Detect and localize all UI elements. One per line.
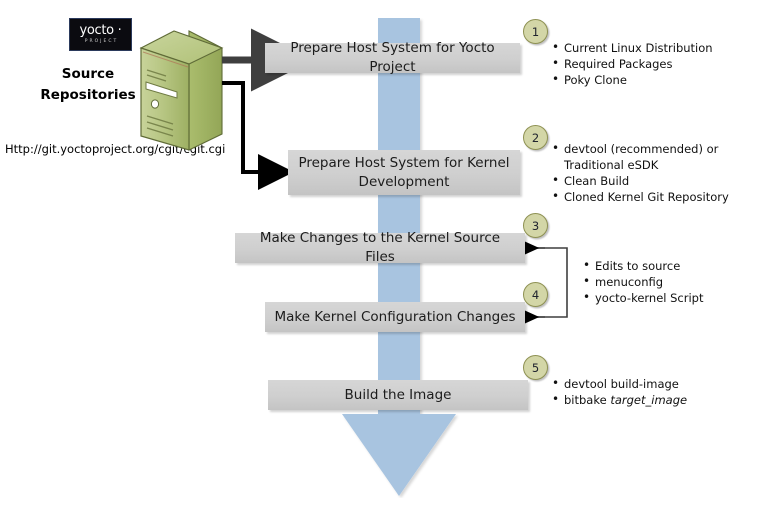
list-item: devtool build-image [551, 376, 687, 392]
step-number-badge-5: 5 [523, 355, 548, 380]
process-box-label: Prepare Host System for Kernel Developme… [296, 154, 512, 192]
list-item-text: Cloned Kernel Git Repository [564, 190, 729, 204]
list-item-text: bitbake [564, 393, 610, 407]
list-item: menuconfig [582, 274, 704, 290]
list-item-text: Required Packages [564, 57, 673, 71]
list-item: yocto-kernel Script [582, 290, 704, 306]
step-number-text: 2 [532, 131, 539, 145]
list-item: Current Linux Distribution [551, 40, 713, 56]
bullet-list-step-2: devtool (recommended) or Traditional eSD… [551, 141, 729, 205]
step-number-text: 4 [532, 288, 539, 302]
list-item: Poky Clone [551, 72, 713, 88]
yocto-logo-main-text: yocto · [79, 24, 121, 37]
process-box-label: Make Kernel Configuration Changes [274, 308, 515, 327]
step-number-text: 1 [532, 25, 539, 39]
source-repositories-label: Source Repositories [30, 64, 146, 106]
step-number-badge-1: 1 [523, 19, 548, 44]
yocto-logo-sub-text: PROJECT [85, 38, 118, 45]
yocto-project-logo: yocto · PROJECT [69, 18, 132, 51]
process-box-step-1[interactable]: Prepare Host System for Yocto Project [265, 43, 520, 73]
list-item: devtool (recommended) or [551, 141, 729, 157]
list-item-text: devtool (recommended) or [564, 142, 718, 156]
list-item-italic-text: target_image [610, 393, 687, 407]
process-box-step-3[interactable]: Make Changes to the Kernel Source Files [235, 233, 525, 263]
diagram-canvas: yocto · PROJECT Source Repositories Http… [0, 0, 769, 517]
process-box-label: Prepare Host System for Yocto Project [273, 39, 512, 77]
list-item-text: yocto-kernel Script [595, 291, 704, 305]
bullet-list-step-5: devtool build-image bitbake target_image [551, 376, 687, 408]
list-item: Clean Build [551, 173, 729, 189]
process-box-label: Make Changes to the Kernel Source Files [243, 229, 517, 267]
list-item-text: Clean Build [564, 174, 629, 188]
process-box-step-4[interactable]: Make Kernel Configuration Changes [265, 302, 525, 332]
step-number-text: 3 [532, 219, 539, 233]
source-label-line2: Repositories [30, 85, 146, 106]
list-item-text: devtool build-image [564, 377, 679, 391]
step-number-text: 5 [532, 361, 539, 375]
step-number-badge-3: 3 [523, 213, 548, 238]
server-tower-icon [133, 26, 225, 159]
list-item: bitbake target_image [551, 392, 687, 408]
process-box-label: Build the Image [345, 386, 452, 405]
list-item: Cloned Kernel Git Repository [551, 189, 729, 205]
step-number-badge-2: 2 [523, 125, 548, 150]
process-box-step-2[interactable]: Prepare Host System for Kernel Developme… [288, 150, 520, 195]
list-item-text: Poky Clone [564, 73, 627, 87]
list-item-text: Current Linux Distribution [564, 41, 713, 55]
list-item-continuation: Traditional eSDK [551, 157, 729, 173]
list-item-text: menuconfig [595, 275, 663, 289]
source-label-line1: Source [30, 64, 146, 85]
list-item: Edits to source [582, 258, 704, 274]
process-box-step-5[interactable]: Build the Image [268, 380, 528, 410]
bullet-list-step-1: Current Linux Distribution Required Pack… [551, 40, 713, 88]
list-item-text: Edits to source [595, 259, 680, 273]
bullet-list-steps-3-4: Edits to source menuconfig yocto-kernel … [582, 258, 704, 306]
list-item: Required Packages [551, 56, 713, 72]
list-item-text: Traditional eSDK [564, 158, 658, 172]
step-number-badge-4: 4 [523, 282, 548, 307]
